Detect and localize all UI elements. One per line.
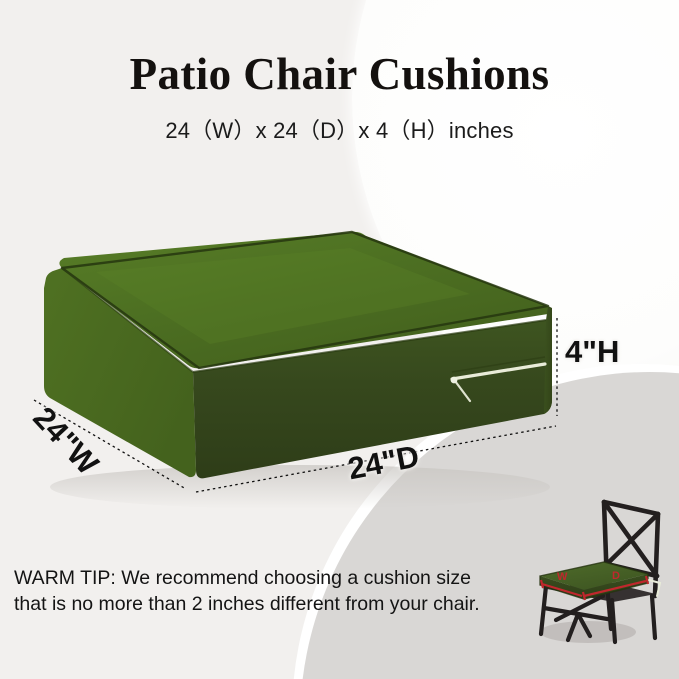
cushion-shadow (50, 465, 550, 509)
warm-tip: WARM TIP: We recommend choosing a cushio… (14, 566, 494, 617)
chair-back-post-right (655, 514, 658, 596)
chair-depth-marker-label: D (612, 570, 620, 582)
product-image-canvas: Patio Chair Cushions 24（W）x 24（D）x 4（H）i… (0, 0, 679, 679)
chair-width-marker-label: W (557, 571, 568, 583)
zipper-slider (451, 377, 458, 384)
chair-back-leg-right (652, 596, 655, 638)
dimension-label-height: 4"H (565, 334, 619, 370)
warm-tip-line-2: that is no more than 2 inches different … (14, 592, 494, 618)
chair-thumbnail: W D (508, 484, 670, 652)
warm-tip-line-1: WARM TIP: We recommend choosing a cushio… (14, 566, 494, 592)
